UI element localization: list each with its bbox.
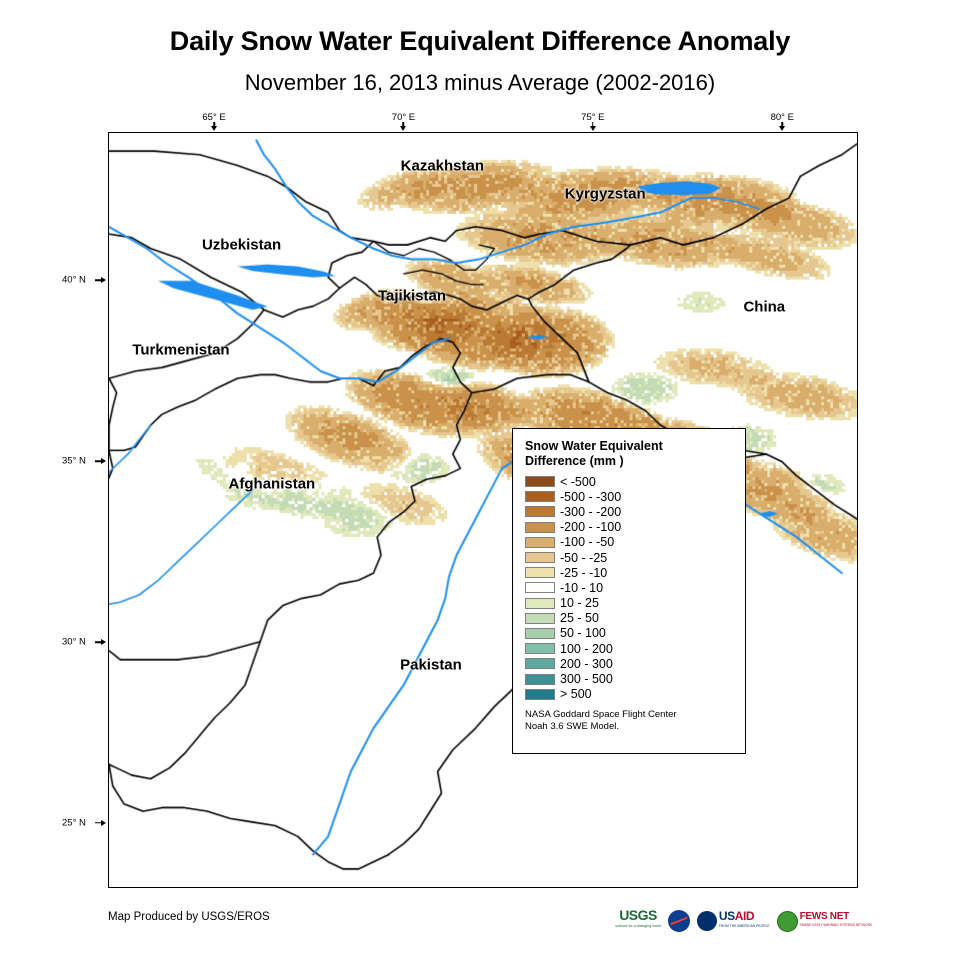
legend-swatch (525, 598, 555, 609)
lon-tick-mark (213, 122, 215, 129)
legend-label: -50 - -25 (560, 552, 607, 564)
legend-note-line1: NASA Goddard Space Flight Center (525, 709, 735, 721)
lon-tick-mark (781, 122, 783, 129)
legend-swatch (525, 522, 555, 533)
lat-tick-mark (95, 460, 102, 462)
usaid-seal-icon (697, 911, 717, 931)
legend-label: 200 - 300 (560, 658, 613, 670)
legend-label: 100 - 200 (560, 643, 613, 655)
legend-swatch (525, 552, 555, 563)
legend-swatch (525, 537, 555, 548)
nasa-logo (668, 910, 690, 932)
legend-title-line1: Snow Water Equivalent (525, 439, 735, 454)
legend-label: 10 - 25 (560, 597, 599, 609)
usaid-logo-subtext: FROM THE AMERICAN PEOPLE (719, 921, 770, 931)
legend-row: -10 - 10 (525, 580, 735, 595)
lat-tick-mark (95, 822, 102, 824)
legend-label: -100 - -50 (560, 536, 614, 548)
legend-class-list: < -500-500 - -300-300 - -200-200 - -100-… (525, 474, 735, 702)
legend-label: > 500 (560, 688, 592, 700)
legend-swatch (525, 658, 555, 669)
lat-tick-label: 25° N (62, 817, 86, 828)
lat-tick-mark (95, 641, 102, 643)
legend-panel: Snow Water Equivalent Difference (mm ) <… (512, 428, 746, 754)
fews-logo-subtext: FAMINE EARLY WARNING SYSTEMS NETWORK (800, 921, 872, 930)
lat-tick-label: 40° N (62, 275, 86, 286)
legend-label: -10 - 10 (560, 582, 603, 594)
lat-tick-mark (95, 280, 102, 282)
lon-tick-mark (403, 122, 405, 129)
legend-swatch (525, 689, 555, 700)
legend-label: < -500 (560, 476, 596, 488)
legend-row: -500 - -300 (525, 489, 735, 504)
lat-tick-label: 35° N (62, 456, 86, 467)
lon-tick-mark (592, 122, 594, 129)
legend-row: < -500 (525, 474, 735, 489)
legend-row: -300 - -200 (525, 504, 735, 519)
agency-logo-strip: USGS science for a changing world USAID … (615, 908, 872, 934)
legend-row: 50 - 100 (525, 626, 735, 641)
usgs-logo-text: USGS (619, 910, 657, 921)
legend-label: 300 - 500 (560, 673, 613, 685)
legend-row: 100 - 200 (525, 641, 735, 656)
legend-label: 50 - 100 (560, 627, 606, 639)
page-subtitle: November 16, 2013 minus Average (2002-20… (0, 70, 960, 96)
legend-swatch (525, 491, 555, 502)
legend-title-line2: Difference (mm ) (525, 454, 735, 469)
legend-label: -25 - -10 (560, 567, 607, 579)
legend-swatch (525, 613, 555, 624)
map-page: Daily Snow Water Equivalent Difference A… (0, 0, 960, 960)
legend-swatch (525, 674, 555, 685)
footer-credit: Map Produced by USGS/EROS (108, 911, 270, 923)
legend-swatch (525, 476, 555, 487)
legend-row: 300 - 500 (525, 671, 735, 686)
legend-note-line2: Noah 3.6 SWE Model. (525, 721, 735, 733)
legend-title: Snow Water Equivalent Difference (mm ) (525, 439, 735, 469)
legend-swatch (525, 582, 555, 593)
page-title: Daily Snow Water Equivalent Difference A… (0, 26, 960, 57)
legend-swatch (525, 506, 555, 517)
legend-row: > 500 (525, 687, 735, 702)
legend-label: 25 - 50 (560, 612, 599, 624)
fews-logo-text: FEWS NET (800, 912, 872, 921)
lat-tick-label: 30° N (62, 637, 86, 648)
legend-row: -50 - -25 (525, 550, 735, 565)
legend-swatch (525, 643, 555, 654)
fews-globe-icon (777, 911, 798, 932)
usaid-logo: USAID FROM THE AMERICAN PEOPLE (697, 910, 770, 932)
usgs-logo: USGS science for a changing world (615, 910, 661, 932)
legend-row: 10 - 25 (525, 596, 735, 611)
legend-label: -500 - -300 (560, 491, 621, 503)
legend-row: -100 - -50 (525, 535, 735, 550)
legend-swatch (525, 567, 555, 578)
legend-swatch (525, 628, 555, 639)
legend-row: 200 - 300 (525, 656, 735, 671)
fews-net-logo: FEWS NET FAMINE EARLY WARNING SYSTEMS NE… (777, 910, 872, 932)
legend-source-note: NASA Goddard Space Flight Center Noah 3.… (525, 709, 735, 733)
legend-label: -300 - -200 (560, 506, 621, 518)
legend-row: 25 - 50 (525, 611, 735, 626)
usgs-logo-subtext: science for a changing world (615, 921, 661, 932)
legend-label: -200 - -100 (560, 521, 621, 533)
legend-row: -200 - -100 (525, 520, 735, 535)
legend-row: -25 - -10 (525, 565, 735, 580)
